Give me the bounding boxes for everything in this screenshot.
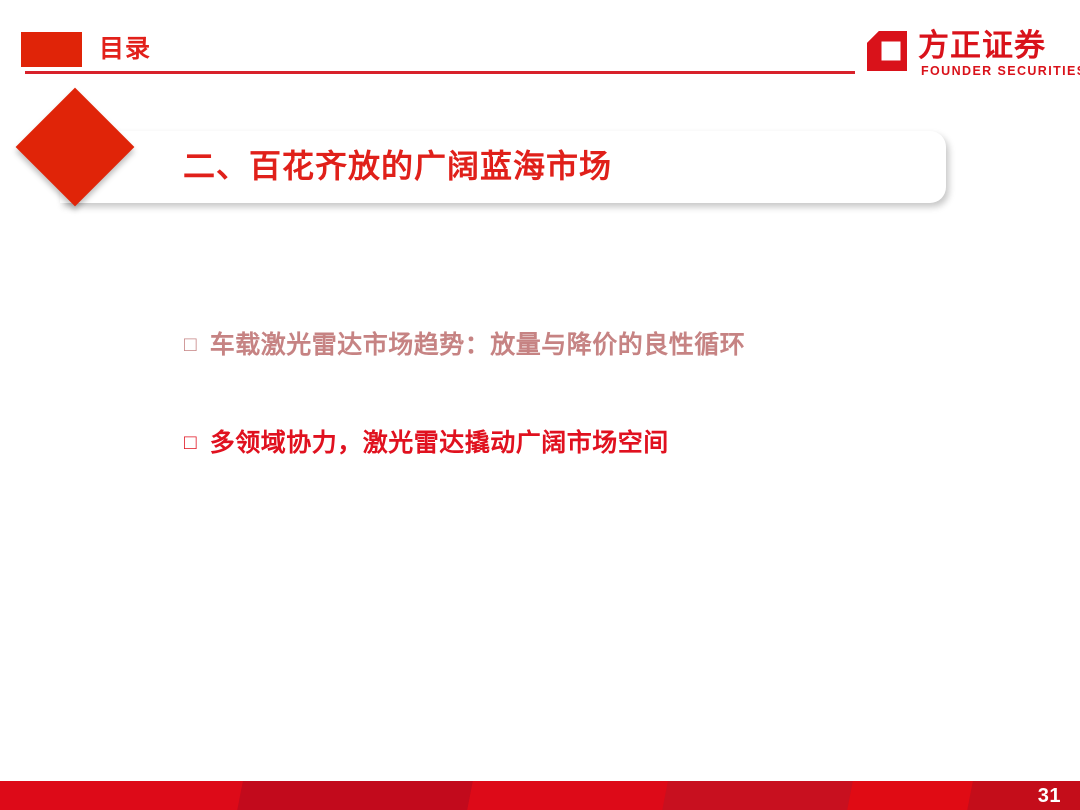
footer-bar — [0, 781, 1080, 810]
section-banner: 二、百花齐放的广阔蓝海市场 — [60, 131, 946, 203]
footer-segment — [236, 781, 473, 810]
header-accent-block — [21, 32, 82, 67]
logo-name-cn: 方正证券 — [918, 28, 1046, 64]
footer-segment — [846, 781, 973, 810]
section-title: 二、百花齐放的广阔蓝海市场 — [183, 144, 612, 188]
footer-segment — [0, 781, 244, 810]
agenda-item-2[interactable]: □ 多领域协力，激光雷达撬动广阔市场空间 — [184, 425, 984, 461]
logo-name-en: FOUNDER SECURITIES — [921, 64, 1080, 78]
footer-segment — [661, 781, 853, 810]
page-number: 31 — [1038, 782, 1061, 810]
agenda-item-1[interactable]: □ 车载激光雷达市场趋势：放量与降价的良性循环 — [184, 327, 984, 363]
footer-segment — [966, 781, 1080, 810]
agenda-list: □ 车载激光雷达市场趋势：放量与降价的良性循环 □ 多领域协力，激光雷达撬动广阔… — [184, 327, 984, 523]
agenda-item-label: 车载激光雷达市场趋势：放量与降价的良性循环 — [210, 327, 746, 363]
square-bullet-icon: □ — [184, 327, 197, 363]
page-title: 目录 — [99, 33, 151, 66]
square-bullet-icon: □ — [184, 425, 197, 461]
agenda-item-label: 多领域协力，激光雷达撬动广阔市场空间 — [210, 425, 669, 461]
header-divider — [25, 71, 855, 74]
founder-angular-square-icon — [866, 30, 908, 72]
footer-segment — [466, 781, 668, 810]
brand-logo: 方正证券 FOUNDER SECURITIES — [866, 28, 1066, 80]
slide-root: 目录 方正证券 FOUNDER SECURITIES 二、百花齐放的广阔蓝海市场… — [0, 0, 1080, 810]
